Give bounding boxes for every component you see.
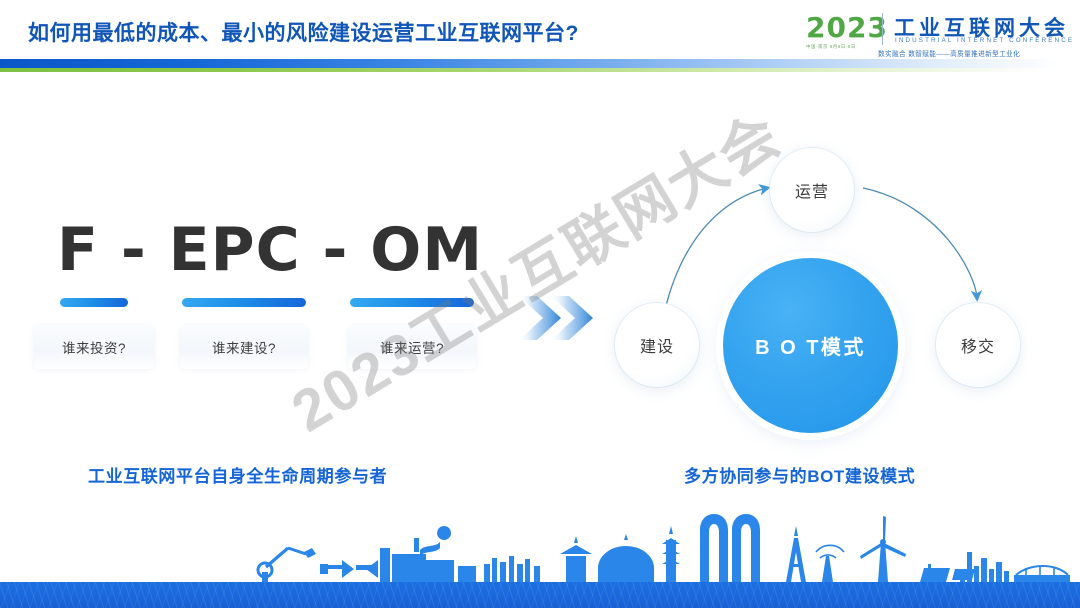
bot-core-label: B O T模式 xyxy=(755,331,866,360)
bot-node-operate[interactable]: 运营 xyxy=(770,148,854,232)
bot-diagram: 运营 建设 移交 B O T模式 xyxy=(595,130,1055,430)
stage-invest: 谁来投资? xyxy=(60,298,128,369)
bot-node-handover-label: 移交 xyxy=(961,333,995,357)
bot-node-build-label: 建设 xyxy=(640,333,674,357)
stage-bar-build xyxy=(182,298,306,307)
footer-band xyxy=(0,582,1080,608)
stage-box-build: 谁来建设? xyxy=(180,325,308,369)
stage-label-invest: 谁来投资? xyxy=(62,337,126,357)
stage-operate: 谁来运营? xyxy=(350,298,474,369)
formula-text: F - EPC - OM xyxy=(30,215,510,285)
logo-divider xyxy=(882,13,883,45)
logo-year: 2023 xyxy=(806,11,888,44)
logo-tagline: 数实融合 数智赋能——高质量推进新型工业化 xyxy=(878,48,1020,58)
bot-core-circle[interactable]: B O T模式 xyxy=(723,258,898,433)
bot-node-handover[interactable]: 移交 xyxy=(936,303,1020,387)
caption-right: 多方协同参与的BOT建设模式 xyxy=(684,462,915,487)
header-rule-green xyxy=(0,68,1045,72)
stage-label-build: 谁来建设? xyxy=(212,337,276,357)
footer-band-mesh xyxy=(0,582,1080,608)
bot-node-operate-label: 运营 xyxy=(795,178,829,202)
slide-canvas: 如何用最低的成本、最小的风险建设运营工业互联网平台? 2023 中国·南京 9月… xyxy=(0,0,1080,608)
page-title: 如何用最低的成本、最小的风险建设运营工业互联网平台? xyxy=(28,17,579,47)
skyline-illustration xyxy=(0,510,1080,586)
conference-logo: 2023 中国·南京 9月6日-8日 工业互联网大会 INDUSTRIAL IN… xyxy=(806,9,1074,57)
stage-bar-invest xyxy=(60,298,128,307)
caption-left: 工业互联网平台自身全生命周期参与者 xyxy=(88,462,387,487)
logo-name-en: INDUSTRIAL INTERNET CONFERENCE xyxy=(895,37,1074,44)
lifecycle-panel: F - EPC - OM 谁来投资? 谁来建设? 谁来运营? xyxy=(30,215,510,405)
stage-label-operate: 谁来运营? xyxy=(380,337,444,357)
slide-header: 如何用最低的成本、最小的风险建设运营工业互联网平台? 2023 中国·南京 9月… xyxy=(0,0,1080,64)
stage-box-invest: 谁来投资? xyxy=(34,325,154,369)
logo-year-subtitle: 中国·南京 9月6日-8日 xyxy=(806,44,856,50)
stage-bar-operate xyxy=(350,298,474,307)
stage-build: 谁来建设? xyxy=(182,298,306,369)
chevron-right-icon xyxy=(513,288,603,348)
header-rule-blue xyxy=(0,59,1060,68)
bot-node-build[interactable]: 建设 xyxy=(615,303,699,387)
stage-box-operate: 谁来运营? xyxy=(348,325,476,369)
